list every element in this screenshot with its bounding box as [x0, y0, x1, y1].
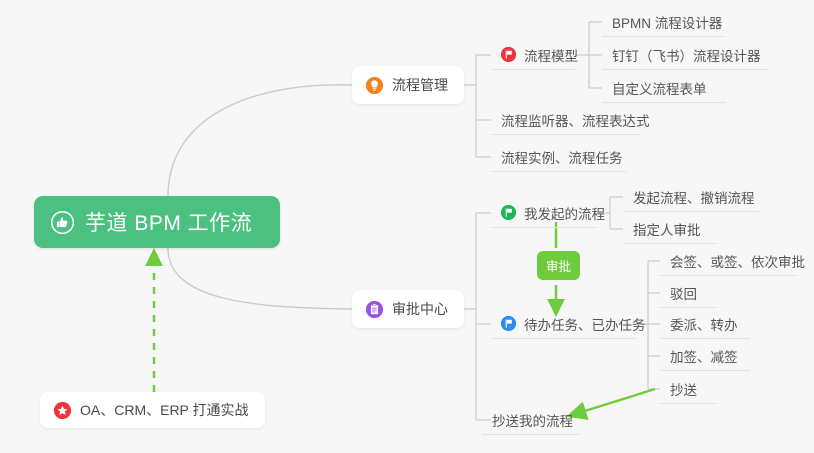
mindmap-canvas: 芋道 BPM 工作流 流程管理 流程模型 BPMN 流程设计器 钉钉（飞书）流 — [0, 0, 814, 453]
node-label: 我发起的流程 — [524, 203, 605, 223]
flag-icon — [501, 316, 516, 331]
node-add-remove-sign[interactable]: 加签、减签 — [660, 341, 750, 371]
node-cc[interactable]: 抄送 — [660, 374, 716, 404]
node-bpmn-designer[interactable]: BPMN 流程设计器 — [602, 7, 724, 37]
node-label: 加签、减签 — [670, 346, 738, 366]
thumbs-up-icon — [51, 211, 74, 234]
node-label: 钉钉（飞书）流程设计器 — [612, 45, 761, 65]
approval-tag-label: 审批 — [546, 256, 571, 275]
flag-icon — [501, 47, 516, 62]
node-dingtalk-feishu-designer[interactable]: 钉钉（飞书）流程设计器 — [602, 40, 768, 70]
footnote-label: OA、CRM、ERP 打通实战 — [80, 400, 249, 420]
root-node[interactable]: 芋道 BPM 工作流 — [34, 196, 280, 248]
node-label: 流程监听器、流程表达式 — [501, 110, 650, 130]
node-label: 抄送 — [670, 379, 697, 399]
lightbulb-icon — [366, 77, 383, 94]
node-label: 流程实例、流程任务 — [501, 147, 623, 167]
node-label: 待办任务、已办任务 — [524, 314, 646, 334]
node-label: BPMN 流程设计器 — [612, 12, 722, 32]
node-assignee-approval[interactable]: 指定人审批 — [623, 214, 717, 244]
node-process-model[interactable]: 流程模型 — [491, 40, 575, 70]
node-my-initiated[interactable]: 我发起的流程 — [491, 198, 596, 228]
node-todo-done[interactable]: 待办任务、已办任务 — [491, 309, 637, 339]
node-label: 流程模型 — [524, 45, 578, 65]
root-label: 芋道 BPM 工作流 — [85, 207, 252, 237]
node-custom-process-form[interactable]: 自定义流程表单 — [602, 73, 726, 103]
flag-icon — [501, 205, 516, 220]
branch-approval-center[interactable]: 审批中心 — [352, 290, 464, 328]
branch-label: 流程管理 — [392, 75, 448, 95]
node-label: 驳回 — [670, 283, 697, 303]
node-label: 自定义流程表单 — [612, 78, 707, 98]
node-label: 指定人审批 — [633, 219, 701, 239]
node-countersign[interactable]: 会签、或签、依次审批 — [660, 246, 796, 276]
approval-tag[interactable]: 审批 — [537, 251, 580, 280]
node-reject[interactable]: 驳回 — [660, 278, 716, 308]
node-label: 会签、或签、依次审批 — [670, 251, 805, 271]
node-label: 抄送我的流程 — [492, 410, 573, 430]
node-cc-to-me[interactable]: 抄送我的流程 — [482, 405, 580, 435]
clipboard-icon — [366, 301, 383, 318]
branch-process-management[interactable]: 流程管理 — [352, 66, 464, 104]
node-start-cancel[interactable]: 发起流程、撤销流程 — [623, 182, 759, 212]
node-label: 发起流程、撤销流程 — [633, 187, 755, 207]
node-delegate-transfer[interactable]: 委派、转办 — [660, 309, 750, 339]
footnote-node[interactable]: OA、CRM、ERP 打通实战 — [40, 392, 265, 428]
star-icon — [54, 402, 71, 419]
node-label: 委派、转办 — [670, 314, 738, 334]
branch-label: 审批中心 — [392, 299, 448, 319]
node-listener-expression[interactable]: 流程监听器、流程表达式 — [491, 105, 641, 135]
node-instance-task[interactable]: 流程实例、流程任务 — [491, 142, 627, 172]
